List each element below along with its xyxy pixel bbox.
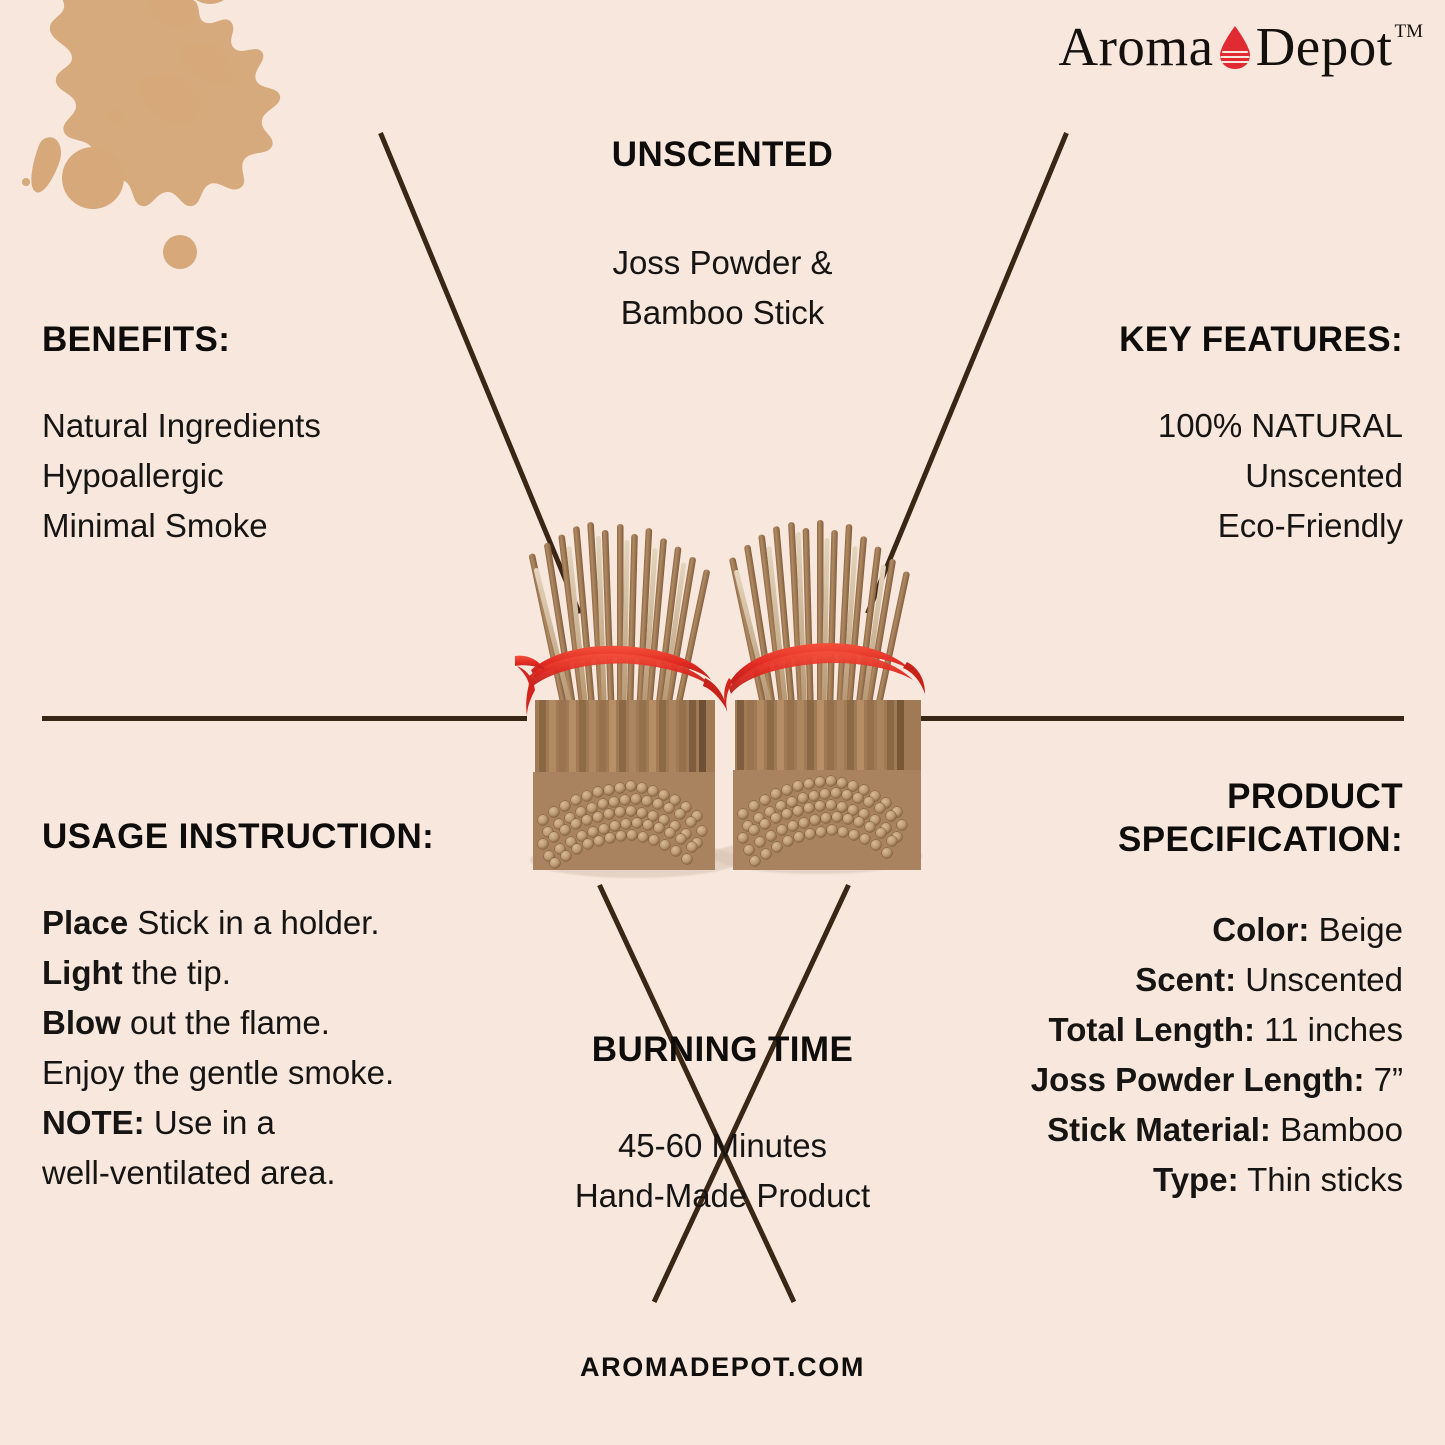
stick-cut-ends-right (733, 770, 921, 870)
incense-bundle-left (515, 522, 727, 870)
key-features-list: 100% NATURAL Unscented Eco-Friendly (1023, 401, 1403, 551)
specification-value: Beige (1309, 911, 1403, 948)
specification-row: Joss Powder Length: 7” (933, 1055, 1403, 1105)
brand-logo: Aroma Depot TM (1058, 16, 1423, 86)
benefits-item: Hypoallergic (42, 451, 321, 501)
key-features-item: 100% NATURAL (1023, 401, 1403, 451)
specification-label: Color: (1212, 911, 1309, 948)
specification-row: Type: Thin sticks (933, 1155, 1403, 1205)
unscented-line: Joss Powder & (0, 238, 1445, 288)
benefits-item: Natural Ingredients (42, 401, 321, 451)
infographic-canvas: Aroma Depot TM (0, 0, 1445, 1445)
usage-step-text: the tip. (123, 954, 231, 991)
stick-cut-ends-left (533, 772, 719, 870)
specification-value: Bamboo (1271, 1111, 1403, 1148)
usage-step-keyword: Light (42, 954, 123, 991)
specification-row: Scent: Unscented (933, 955, 1403, 1005)
usage-step: Place Stick in a holder. (42, 898, 434, 948)
specification-row: Stick Material: Bamboo (933, 1105, 1403, 1155)
benefits-list: Natural Ingredients Hypoallergic Minimal… (42, 401, 321, 551)
usage-heading: USAGE INSTRUCTION: (42, 815, 434, 858)
specification-label: Stick Material: (1047, 1111, 1271, 1148)
key-features-heading: KEY FEATURES: (1023, 318, 1403, 361)
specification-row: Color: Beige (933, 905, 1403, 955)
specification-value: Thin sticks (1239, 1161, 1403, 1198)
section-unscented: UNSCENTED Joss Powder & Bamboo Stick (0, 133, 1445, 338)
specification-heading: PRODUCT SPECIFICATION: (933, 775, 1403, 861)
key-features-item: Eco-Friendly (1023, 501, 1403, 551)
usage-step: Light the tip. (42, 948, 434, 998)
specification-value: 7” (1364, 1061, 1403, 1098)
horizontal-divider-left (42, 716, 527, 721)
benefits-heading: BENEFITS: (42, 318, 321, 361)
incense-bundle-right (724, 520, 925, 870)
section-key-features: KEY FEATURES: 100% NATURAL Unscented Eco… (1023, 318, 1403, 551)
key-features-item: Unscented (1023, 451, 1403, 501)
specification-value: 11 inches (1255, 1011, 1403, 1048)
specification-label: Total Length: (1049, 1011, 1256, 1048)
usage-step-text: Stick in a holder. (128, 904, 379, 941)
unscented-heading: UNSCENTED (0, 133, 1445, 176)
incense-stick-bundles-photo (505, 520, 945, 880)
specification-rows: Color: BeigeScent: UnscentedTotal Length… (933, 905, 1403, 1205)
usage-step-keyword: Place (42, 904, 128, 941)
specification-label: Type: (1153, 1161, 1239, 1198)
horizontal-divider-right (921, 716, 1404, 721)
specification-row: Total Length: 11 inches (933, 1005, 1403, 1055)
specification-value: Unscented (1236, 961, 1403, 998)
logo-word-aroma: Aroma (1058, 16, 1213, 78)
specification-label: Scent: (1135, 961, 1236, 998)
benefits-item: Minimal Smoke (42, 501, 321, 551)
red-droplet-icon (1215, 16, 1255, 78)
section-benefits: BENEFITS: Natural Ingredients Hypoallerg… (42, 318, 321, 551)
footer-website[interactable]: AROMADEPOT.COM (0, 1352, 1445, 1383)
section-product-specification: PRODUCT SPECIFICATION: Color: BeigeScent… (933, 775, 1403, 1205)
specification-label: Joss Powder Length: (1031, 1061, 1365, 1098)
logo-word-depot: Depot (1256, 16, 1393, 78)
trademark-symbol: TM (1395, 22, 1424, 41)
